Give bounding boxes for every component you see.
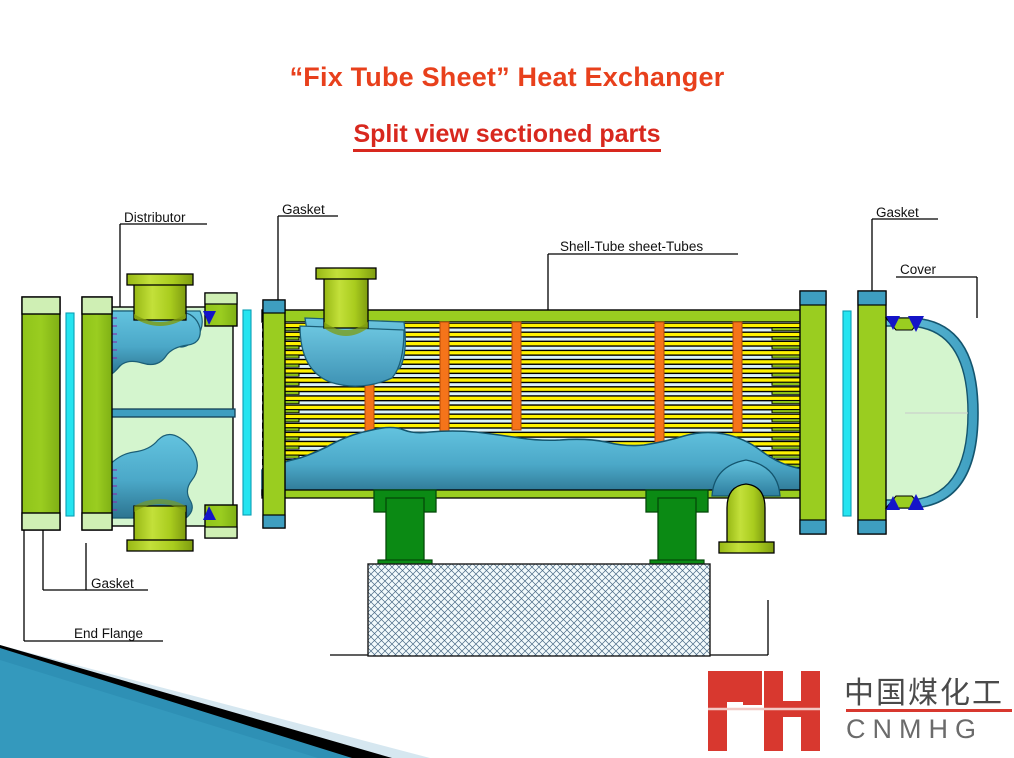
- heat-exchanger-drawing: [0, 0, 1014, 758]
- label-gasket-top-left: Gasket: [282, 202, 325, 217]
- divider-plate: [105, 409, 235, 417]
- bottom-left-angled-band: [0, 645, 430, 758]
- label-gasket-bottom: Gasket: [91, 576, 134, 591]
- tube-sheet-right: [800, 291, 826, 534]
- label-shell-tube-sheet-tubes: Shell-Tube sheet-Tubes: [560, 239, 703, 254]
- concrete-foundation: [368, 564, 710, 656]
- distributor-nozzle-bottom: [127, 499, 193, 551]
- gasket-right: [843, 311, 851, 516]
- saddle-support-left: [374, 490, 436, 569]
- logo-english-text: CNMHG: [846, 714, 983, 745]
- cnmhg-logo-mark: [706, 663, 856, 758]
- logo-rule: [846, 709, 1012, 712]
- gasket-left-inner: [243, 310, 251, 515]
- slide-canvas: “Fix Tube Sheet” Heat Exchanger Split vi…: [0, 0, 1014, 758]
- gasket-left-outer: [66, 313, 74, 516]
- shell-inlet-nozzle: [300, 268, 405, 386]
- logo-chinese-text: 中国煤化工: [844, 668, 1004, 712]
- tube-sheet-left: [263, 300, 285, 528]
- label-distributor: Distributor: [124, 210, 186, 225]
- label-end-flange: End Flange: [74, 626, 143, 641]
- shell-outlet-nozzle: [712, 460, 780, 553]
- end-flange-left: [22, 297, 60, 530]
- saddle-support-right: [646, 490, 708, 569]
- label-cover: Cover: [900, 262, 936, 277]
- cover-head: [858, 291, 978, 534]
- label-gasket-top-right: Gasket: [876, 205, 919, 220]
- distributor-nozzle-top: [127, 274, 193, 326]
